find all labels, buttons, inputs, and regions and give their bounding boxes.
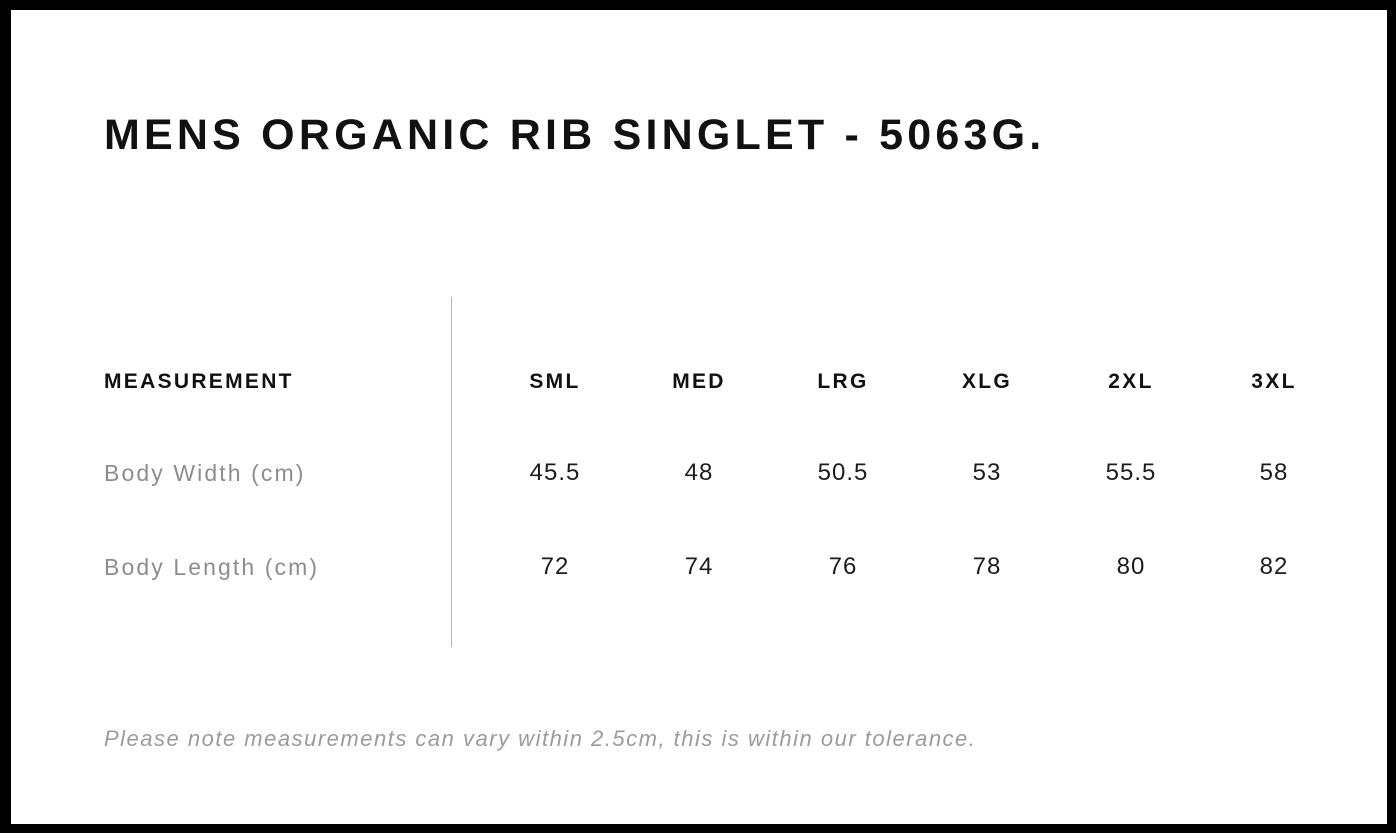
cell-body-width-med: 48 xyxy=(634,453,764,493)
cell-body-length-sml: 72 xyxy=(490,547,620,587)
cell-body-length-xlg: 78 xyxy=(922,547,1052,587)
size-header-xlg: XLG xyxy=(922,362,1052,402)
size-header-sml: SML xyxy=(490,362,620,402)
size-chart-table: MEASUREMENT SML MED LRG XLG 2XL 3XL Body… xyxy=(11,10,1387,824)
cell-body-length-lrg: 76 xyxy=(778,547,908,587)
size-header-lrg: LRG xyxy=(778,362,908,402)
size-header-med: MED xyxy=(634,362,764,402)
size-header-3xl: 3XL xyxy=(1209,362,1339,402)
table-row: Body Length (cm) 72 74 76 78 80 82 xyxy=(11,547,1387,587)
table-header-row: MEASUREMENT SML MED LRG XLG 2XL 3XL xyxy=(11,362,1387,402)
measurement-column-header: MEASUREMENT xyxy=(104,362,294,402)
row-label-body-width: Body Width (cm) xyxy=(104,453,305,493)
cell-body-width-sml: 45.5 xyxy=(490,453,620,493)
cell-body-width-3xl: 58 xyxy=(1209,453,1339,493)
black-border-frame: MENS ORGANIC RIB SINGLET - 5063G. MEASUR… xyxy=(0,0,1396,833)
cell-body-length-med: 74 xyxy=(634,547,764,587)
cell-body-width-2xl: 55.5 xyxy=(1066,453,1196,493)
cell-body-width-xlg: 53 xyxy=(922,453,1052,493)
cell-body-length-3xl: 82 xyxy=(1209,547,1339,587)
cell-body-length-2xl: 80 xyxy=(1066,547,1196,587)
size-chart-card: MENS ORGANIC RIB SINGLET - 5063G. MEASUR… xyxy=(11,10,1387,824)
row-label-body-length: Body Length (cm) xyxy=(104,547,319,587)
size-header-2xl: 2XL xyxy=(1066,362,1196,402)
cell-body-width-lrg: 50.5 xyxy=(778,453,908,493)
tolerance-note: Please note measurements can vary within… xyxy=(104,724,976,754)
table-row: Body Width (cm) 45.5 48 50.5 53 55.5 58 xyxy=(11,453,1387,493)
